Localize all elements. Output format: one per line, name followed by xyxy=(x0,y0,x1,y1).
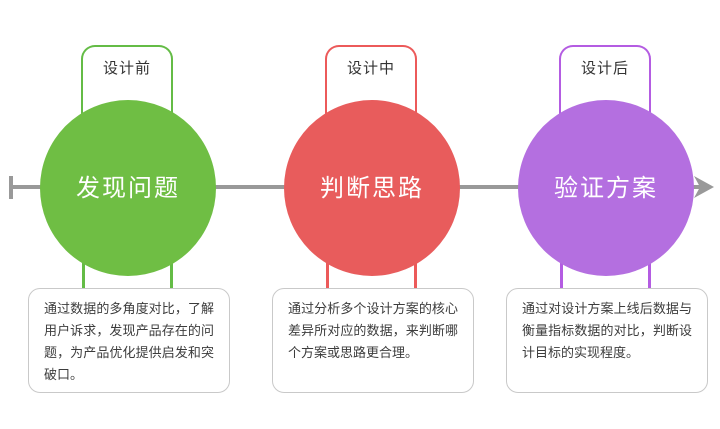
stage-group-2: 设计中 判断思路 通过分析多个设计方案的核心差异所对应的数据，来判断哪个方案或思… xyxy=(238,0,498,429)
phase-label-1: 设计前 xyxy=(67,58,187,78)
description-card-1: 通过数据的多角度对比，了解用户诉求，发现产品存在的问题，为产品优化提供启发和突破… xyxy=(28,288,230,393)
stage-circle-2[interactable]: 判断思路 xyxy=(284,100,460,276)
stage-circle-3[interactable]: 验证方案 xyxy=(518,100,694,276)
description-text-1: 通过数据的多角度对比，了解用户诉求，发现产品存在的问题，为产品优化提供启发和突破… xyxy=(44,299,214,387)
phase-label-3: 设计后 xyxy=(545,58,665,78)
stage-group-3: 设计后 验证方案 通过对设计方案上线后数据与衡量指标数据的对比，判断设计目标的实… xyxy=(472,0,720,429)
description-card-2: 通过分析多个设计方案的核心差异所对应的数据，来判断哪个方案或思路更合理。 xyxy=(272,288,474,393)
diagram-canvas: 设计前 发现问题 通过数据的多角度对比，了解用户诉求，发现产品存在的问题，为产品… xyxy=(0,0,720,429)
stage-circle-label-1: 发现问题 xyxy=(76,174,180,202)
description-text-2: 通过分析多个设计方案的核心差异所对应的数据，来判断哪个方案或思路更合理。 xyxy=(288,299,458,365)
stage-circle-1[interactable]: 发现问题 xyxy=(40,100,216,276)
stage-circle-label-2: 判断思路 xyxy=(320,174,424,202)
phase-label-2: 设计中 xyxy=(311,58,431,78)
stage-circle-label-3: 验证方案 xyxy=(554,174,658,202)
description-text-3: 通过对设计方案上线后数据与衡量指标数据的对比，判断设计目标的实现程度。 xyxy=(522,299,692,365)
description-card-3: 通过对设计方案上线后数据与衡量指标数据的对比，判断设计目标的实现程度。 xyxy=(506,288,708,393)
stage-group-1: 设计前 发现问题 通过数据的多角度对比，了解用户诉求，发现产品存在的问题，为产品… xyxy=(0,0,260,429)
